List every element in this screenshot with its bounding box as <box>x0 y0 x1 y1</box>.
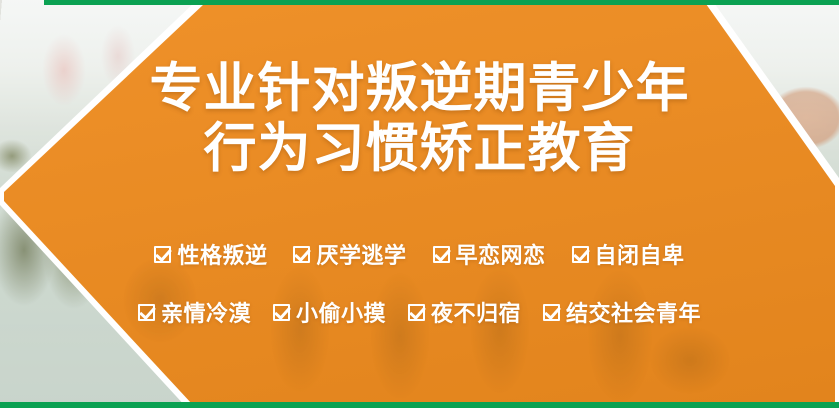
checklist-item-label: 厌学逃学 <box>316 238 406 270</box>
checkbox-checked-icon[interactable] <box>293 246 310 263</box>
checklist-item-label: 自闭自卑 <box>595 238 685 270</box>
checkbox-checked-icon[interactable] <box>154 246 171 263</box>
checklist-item[interactable]: 夜不归宿 <box>408 296 521 328</box>
checklist-item[interactable]: 性格叛逆 <box>154 238 267 270</box>
checklist-item[interactable]: 亲情冷漠 <box>138 296 251 328</box>
promo-banner: 专业针对叛逆期青少年 行为习惯矫正教育 性格叛逆 厌学逃学 早恋网恋 <box>0 0 839 408</box>
checklist-item[interactable]: 自闭自卑 <box>572 238 685 270</box>
banner-content: 专业针对叛逆期青少年 行为习惯矫正教育 性格叛逆 厌学逃学 早恋网恋 <box>0 0 839 408</box>
checklist-item-label: 早恋网恋 <box>456 238 546 270</box>
checkbox-checked-icon[interactable] <box>138 304 155 321</box>
checklist-item-label: 小偷小摸 <box>296 296 386 328</box>
checkbox-checked-icon[interactable] <box>543 304 560 321</box>
checklist-item-label: 性格叛逆 <box>177 238 267 270</box>
headline-line-1: 专业针对叛逆期青少年 <box>0 62 839 116</box>
headline-line-2: 行为习惯矫正教育 <box>0 122 839 176</box>
checklist-item[interactable]: 早恋网恋 <box>433 238 546 270</box>
checklist-row-1: 性格叛逆 厌学逃学 早恋网恋 自闭自卑 <box>0 238 839 270</box>
headline: 专业针对叛逆期青少年 行为习惯矫正教育 <box>0 62 839 176</box>
checklist-item[interactable]: 厌学逃学 <box>293 238 406 270</box>
checklist-item-label: 结交社会青年 <box>566 296 701 328</box>
checkbox-checked-icon[interactable] <box>408 304 425 321</box>
checklist-item[interactable]: 结交社会青年 <box>543 296 701 328</box>
checklist-item-label: 夜不归宿 <box>431 296 521 328</box>
checkbox-checked-icon[interactable] <box>273 304 290 321</box>
checklist-item-label: 亲情冷漠 <box>161 296 251 328</box>
checkbox-checked-icon[interactable] <box>572 246 589 263</box>
checklist-item[interactable]: 小偷小摸 <box>273 296 386 328</box>
checkbox-checked-icon[interactable] <box>433 246 450 263</box>
feature-checklist: 性格叛逆 厌学逃学 早恋网恋 自闭自卑 亲情冷漠 <box>0 238 839 354</box>
checklist-row-2: 亲情冷漠 小偷小摸 夜不归宿 结交社会青年 <box>0 296 839 328</box>
